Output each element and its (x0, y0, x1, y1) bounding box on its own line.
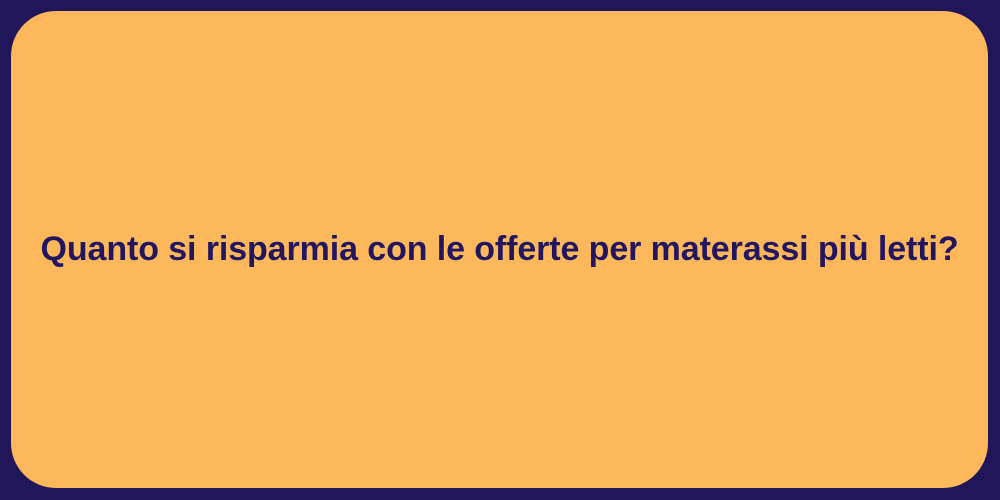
banner-card: Quanto si risparmia con le offerte per m… (11, 11, 988, 488)
banner-frame: Quanto si risparmia con le offerte per m… (0, 0, 1000, 500)
page-title: Quanto si risparmia con le offerte per m… (41, 228, 959, 271)
